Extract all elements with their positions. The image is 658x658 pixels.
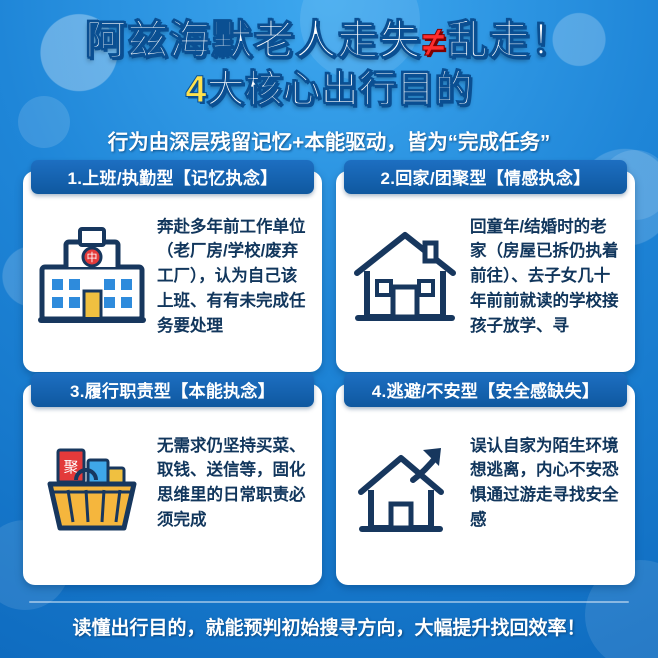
card-3-body: 聚 无需求仍坚持买菜、取钱、送信等，固化思维里的日常职责必须完成: [33, 418, 312, 577]
poster-root: 阿兹海默老人走失≠乱走！ 4大核心出行目的 行为由深层残留记忆+本能驱动，皆为“…: [0, 0, 658, 658]
card-duty-fulfillment: 3.履行职责型【本能执念】 聚 无需求仍坚持买菜、取钱、送信等，固化思维里的日常…: [23, 384, 322, 585]
card-4-title: 4.逃避/不安型【安全感缺失】: [344, 373, 627, 407]
title-part-1: 阿兹海默老人走失: [85, 17, 421, 63]
card-1-title: 1.上班/执勤型【记忆执念】: [31, 160, 314, 194]
card-1-body: 中 奔赴多年前工作单位（老厂房/学校/废弃工厂），认为自己该上班、有有未完成任务…: [33, 205, 312, 364]
card-3-title: 3.履行职责型【本能执念】: [31, 373, 314, 407]
shopping-basket-icon: 聚: [33, 418, 151, 558]
svg-text:中: 中: [87, 251, 98, 264]
main-title-line-1: 阿兹海默老人走失≠乱走！: [10, 18, 648, 64]
card-2-text: 回童年/结婚时的老家（房屋已拆仍执着前往）、去子女几十年前前就读的学校接孩子放学…: [470, 205, 625, 339]
poster-footer: 读懂出行目的，就能预判初始搜寻方向，大幅提升找回效率！: [0, 601, 658, 640]
card-4-text: 误认自家为陌生环境想逃离，内心不安恐惧通过游走寻找安全感: [470, 418, 625, 533]
card-3-text: 无需求仍坚持买菜、取钱、送信等，固化思维里的日常职责必须完成: [157, 418, 312, 533]
house-home-icon: [346, 205, 464, 345]
footer-divider: [29, 601, 629, 603]
house-arrow-icon: [346, 418, 464, 558]
main-title-line-2: 4大核心出行目的: [10, 70, 648, 112]
cards-grid: 1.上班/执勤型【记忆执念】 中: [23, 171, 635, 585]
title-line-2-rest: 大核心出行目的: [207, 69, 473, 111]
office-building-icon: 中: [33, 205, 151, 345]
card-2-title: 2.回家/团聚型【情感执念】: [344, 160, 627, 194]
card-2-body: 回童年/结婚时的老家（房屋已拆仍执着前往）、去子女几十年前前就读的学校接孩子放学…: [346, 205, 625, 364]
card-4-body: 误认自家为陌生环境想逃离，内心不安恐惧通过游走寻找安全感: [346, 418, 625, 577]
title-number-highlight: 4: [185, 69, 206, 111]
card-1-text: 奔赴多年前工作单位（老厂房/学校/废弃工厂），认为自己该上班、有有未完成任务要处…: [157, 205, 312, 339]
card-escape-insecurity: 4.逃避/不安型【安全感缺失】 误认自家为陌生环境想逃离，内心不安恐惧通过游走寻…: [336, 384, 635, 585]
subtitle: 行为由深层残留记忆+本能驱动，皆为“完成任务”: [10, 125, 648, 155]
footer-text: 读懂出行目的，就能预判初始搜寻方向，大幅提升找回效率！: [72, 613, 585, 640]
poster-header: 阿兹海默老人走失≠乱走！ 4大核心出行目的 行为由深层残留记忆+本能驱动，皆为“…: [0, 0, 658, 155]
not-equal-icon: ≠: [421, 20, 447, 66]
card-work-duty: 1.上班/执勤型【记忆执念】 中: [23, 171, 322, 372]
title-part-2: 乱走！: [447, 17, 573, 63]
card-home-reunion: 2.回家/团聚型【情感执念】 回童年/结婚时的老家（房屋已拆仍执着前往）、去子女…: [336, 171, 635, 372]
